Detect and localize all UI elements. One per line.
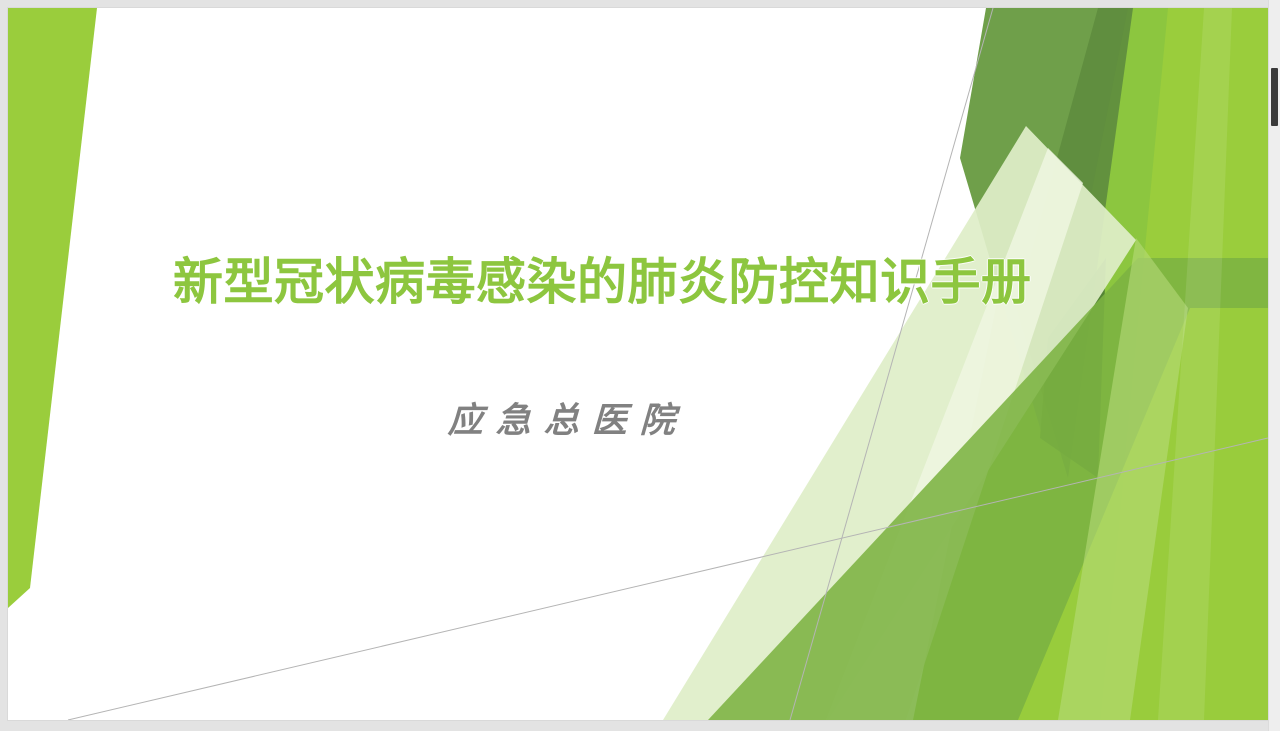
presentation-slide[interactable]: 新型冠状病毒感染的肺炎防控知识手册 应急总医院 [8, 8, 1268, 720]
vertical-scrollbar[interactable] [1268, 0, 1280, 731]
screen-viewport: 新型冠状病毒感染的肺炎防控知识手册 应急总医院 [0, 0, 1280, 731]
vertical-scrollbar-thumb[interactable] [1271, 68, 1278, 126]
slide-background-artwork [8, 8, 1268, 720]
left-green-wedge [8, 8, 97, 608]
